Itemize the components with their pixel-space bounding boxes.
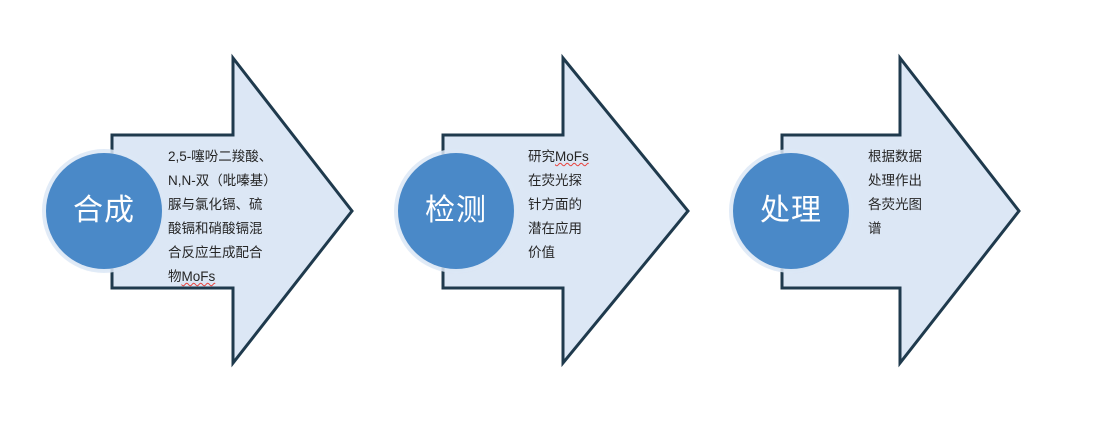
stage-circle-detection[interactable]: 检测 [398,153,514,269]
process-stage-synthesis: 合成 2,5-噻吩二羧酸、 N,N-双（吡嗪基） 脲与氯化镉、硫 酸镉和硝酸镉混… [0,0,1099,422]
process-stage-processing: 处理 根据数据 处理作出 各荧光图 谱 [0,0,1099,422]
chevron-arrow-shape-synthesis[interactable] [0,0,1099,422]
stage-circle-label-detection: 检测 [425,196,487,226]
stage-body-text-synthesis: 2,5-噻吩二羧酸、 N,N-双（吡嗪基） 脲与氯化镉、硫 酸镉和硝酸镉混 合反… [168,145,314,289]
chevron-arrow-shape-processing[interactable] [0,0,1099,422]
stage-body-text-content-detection: 研究MoFs 在荧光探 针方面的 潜在应用 价值 [528,149,589,260]
process-stage-detection: 检测 研究MoFs 在荧光探 针方面的 潜在应用 价值 [0,0,1099,422]
stage-body-text-processing: 根据数据 处理作出 各荧光图 谱 [868,145,976,241]
stage-circle-label-synthesis: 合成 [73,196,135,226]
spellcheck-flagged-word: MoFs [182,269,216,284]
spellcheck-flagged-word: MoFs [555,149,589,164]
stage-circle-synthesis[interactable]: 合成 [46,153,162,269]
stage-circle-processing[interactable]: 处理 [733,153,849,269]
stage-body-text-content-processing: 根据数据 处理作出 各荧光图 谱 [868,149,922,236]
process-flow-diagram: 合成 2,5-噻吩二羧酸、 N,N-双（吡嗪基） 脲与氯化镉、硫 酸镉和硝酸镉混… [0,0,1099,422]
stage-circle-label-processing: 处理 [760,196,822,226]
stage-body-text-detection: 研究MoFs 在荧光探 针方面的 潜在应用 价值 [528,145,636,265]
chevron-arrow-shape-detection[interactable] [0,0,1099,422]
stage-body-text-content-synthesis: 2,5-噻吩二羧酸、 N,N-双（吡嗪基） 脲与氯化镉、硫 酸镉和硝酸镉混 合反… [168,149,277,284]
